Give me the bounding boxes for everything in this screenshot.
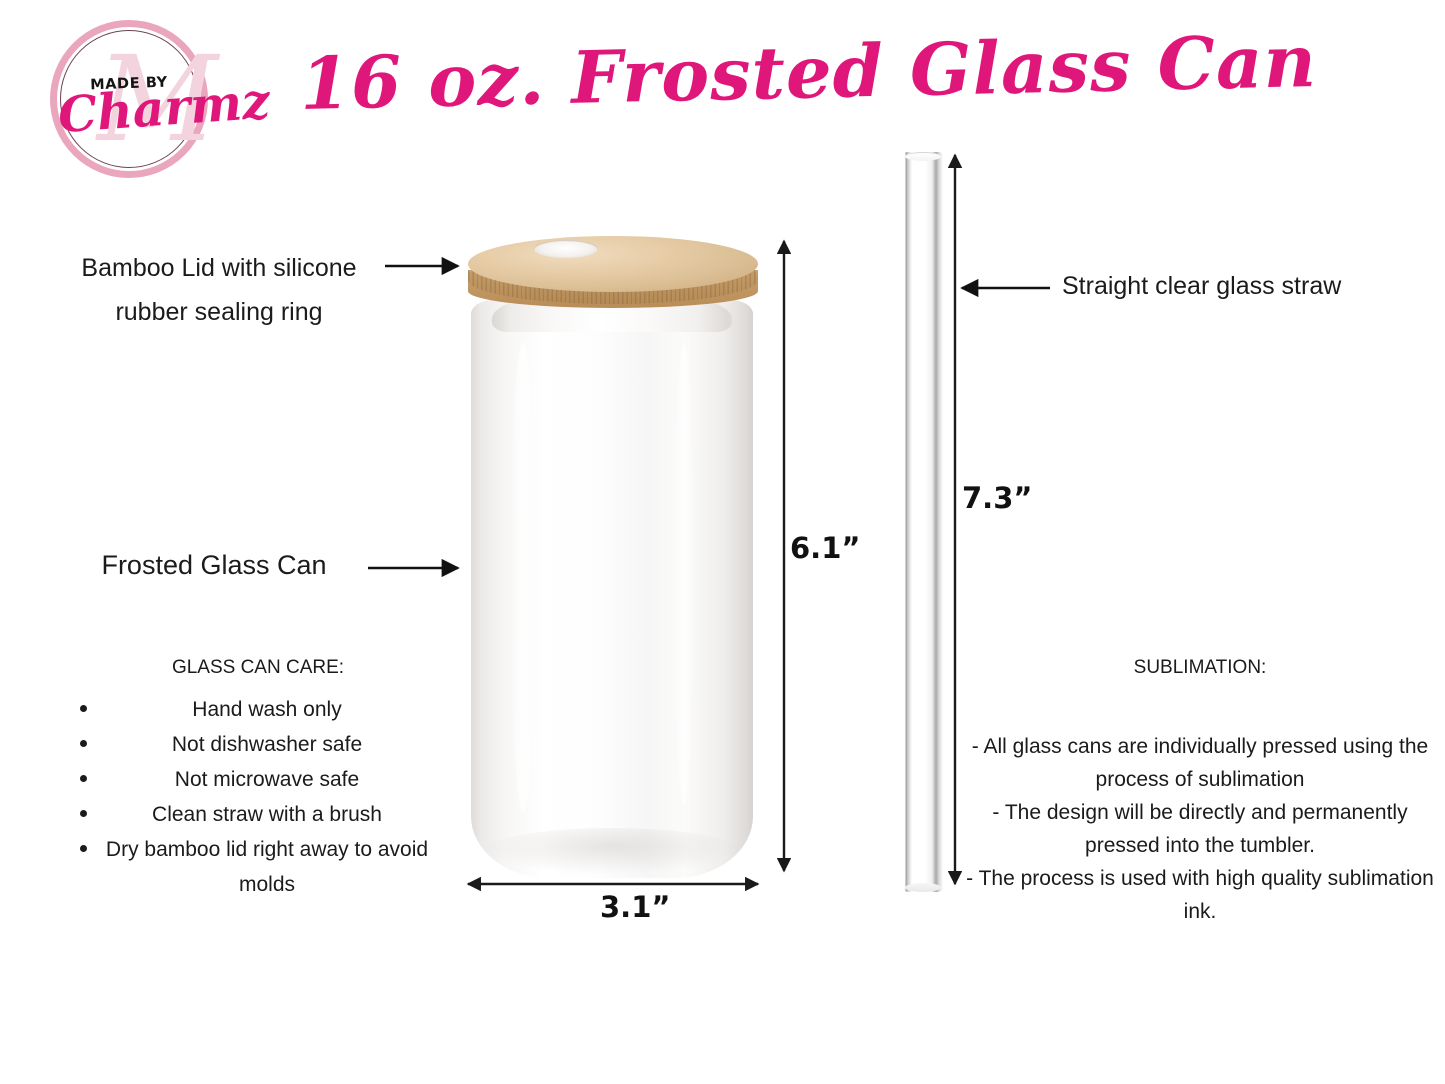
callout-glass-straw: Straight clear glass straw: [1062, 266, 1392, 306]
care-list-item-label: Not dishwasher safe: [172, 733, 362, 756]
frosted-glass-can-illustration: [462, 232, 762, 882]
straw-tube: [903, 152, 943, 892]
care-list-item: Dry bamboo lid right away to avoid molds: [60, 832, 440, 902]
care-list-item: Hand wash only: [60, 692, 440, 727]
callout-bamboo-lid: Bamboo Lid with silicone rubber sealing …: [54, 246, 384, 334]
glass-highlight-right: [674, 344, 694, 804]
glass-highlight-left: [510, 342, 536, 812]
straw-top-opening: [905, 152, 941, 161]
infographic-canvas: M MADE BY Charmz 16 oz. Frosted Glass Ca…: [0, 0, 1445, 1084]
bullet-icon: [80, 845, 87, 852]
care-list-item-label: Dry bamboo lid right away to avoid molds: [106, 838, 428, 896]
bullet-icon: [80, 705, 87, 712]
glass-bottom-shadow: [484, 828, 740, 874]
care-list-item-label: Clean straw with a brush: [152, 803, 382, 826]
dimension-label-can-height: 6.1”: [790, 531, 860, 565]
bullet-icon: [80, 740, 87, 747]
sublimation-line: - The process is used with high quality …: [965, 862, 1435, 928]
glass-straw-illustration: [903, 152, 943, 892]
sublimation-details: - All glass cans are individually presse…: [965, 730, 1435, 928]
brand-logo: M MADE BY Charmz: [22, 18, 234, 186]
care-list-item-label: Not microwave safe: [175, 768, 359, 791]
sublimation-line: - The design will be directly and perman…: [965, 796, 1435, 862]
care-instructions-list: Hand wash onlyNot dishwasher safeNot mic…: [60, 692, 440, 902]
care-heading: GLASS CAN CARE:: [88, 657, 428, 679]
care-list-item: Not microwave safe: [60, 762, 440, 797]
page-title: 16 oz. Frosted Glass Can: [299, 15, 1231, 132]
bamboo-lid-top: [468, 236, 758, 292]
logo-charmz-text: Charmz: [56, 75, 210, 145]
bullet-icon: [80, 810, 87, 817]
sublimation-line: - All glass cans are individually presse…: [965, 730, 1435, 796]
care-list-item: Clean straw with a brush: [60, 797, 440, 832]
bullet-icon: [80, 775, 87, 782]
sublimation-heading: SUBLIMATION:: [980, 657, 1420, 679]
dimension-label-can-width: 3.1”: [600, 890, 670, 924]
care-list-item: Not dishwasher safe: [60, 727, 440, 762]
care-list-item-label: Hand wash only: [192, 698, 341, 721]
callout-frosted-glass-can: Frosted Glass Can: [64, 545, 364, 585]
straw-hole: [534, 240, 598, 258]
straw-bottom-opening: [905, 883, 941, 892]
dimension-label-straw-length: 7.3”: [962, 481, 1032, 515]
